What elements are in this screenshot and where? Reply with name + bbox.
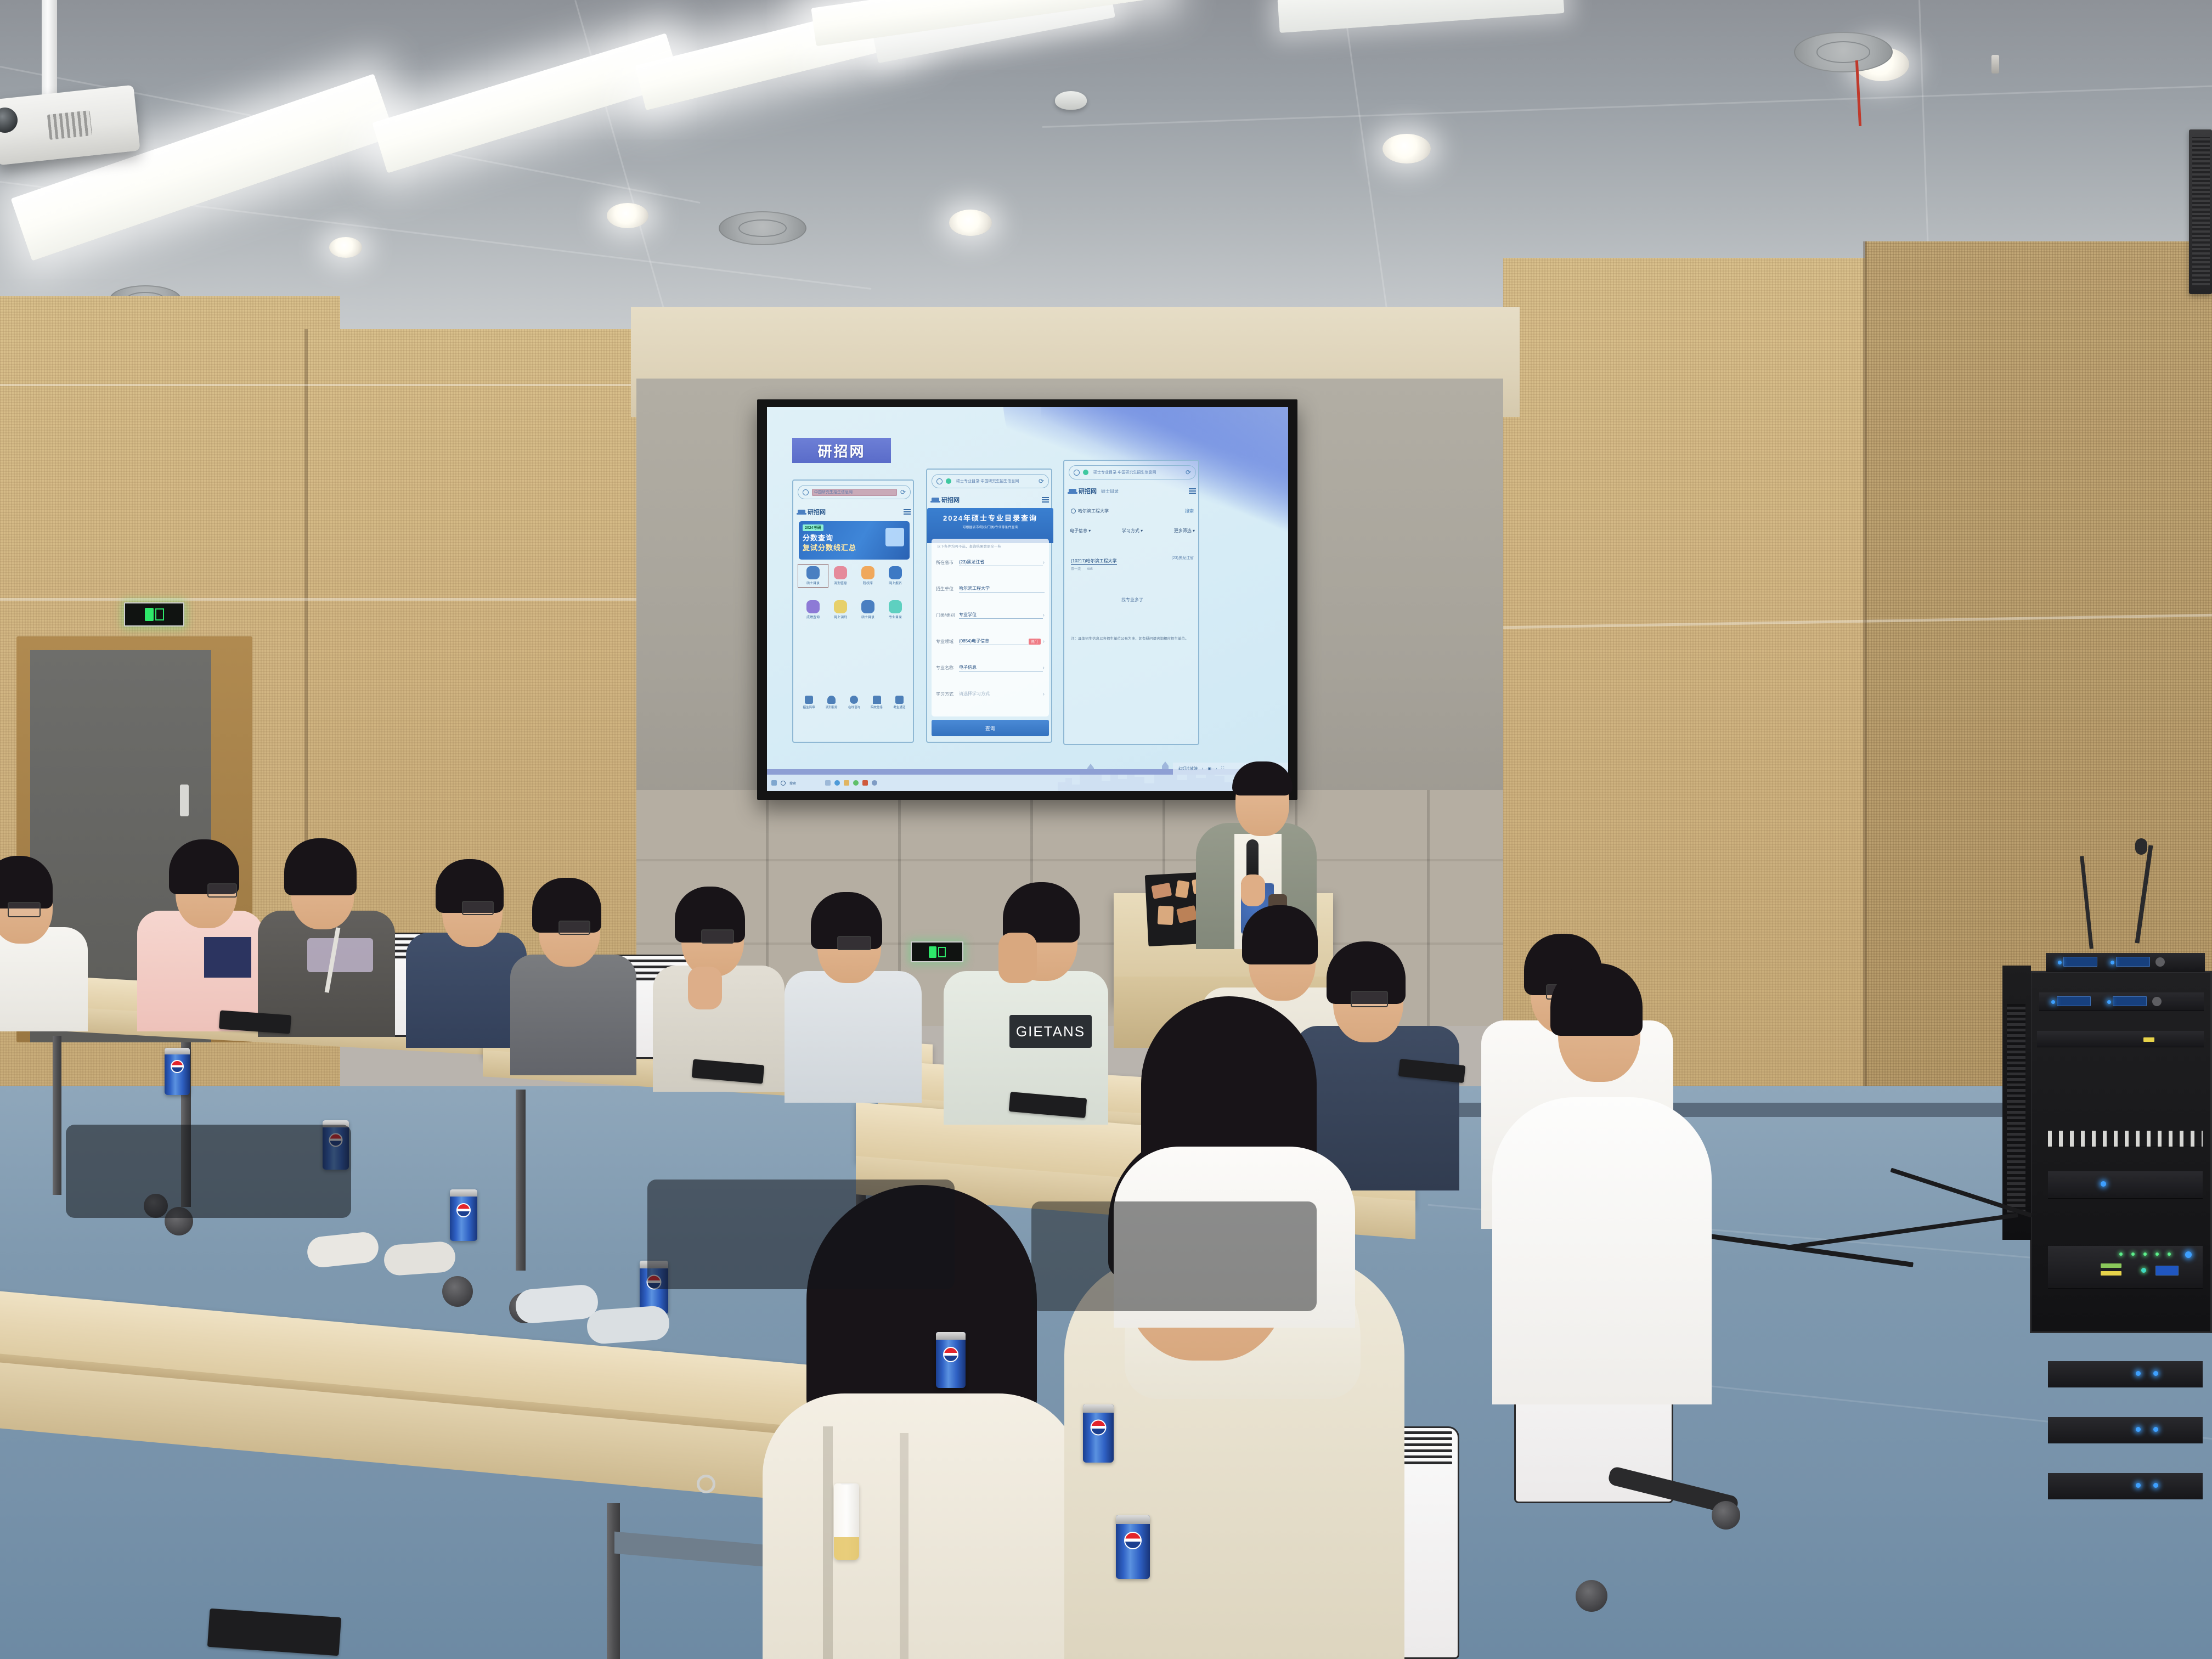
chair-caster <box>1576 1580 1607 1612</box>
brand-subtitle: 硕士目录 <box>1101 488 1119 494</box>
search-icon <box>803 489 809 495</box>
app-top-bar: 研招网 硕士目录 <box>1064 484 1200 498</box>
status-led <box>2111 961 2114 964</box>
hamburger-menu-icon[interactable] <box>904 509 911 515</box>
table-caster <box>442 1276 473 1307</box>
ceiling-air-vent <box>719 211 806 245</box>
pepsi-logo-icon <box>943 1347 958 1362</box>
app-icon <box>806 566 820 579</box>
search-icon[interactable] <box>781 781 786 786</box>
app-icon <box>806 600 820 613</box>
wechat-icon[interactable] <box>853 780 859 786</box>
browser-url-bar[interactable]: 硕士专业目录-中国研究生招生信息网 ⟳ <box>1069 465 1196 479</box>
status-led <box>2051 1000 2055 1004</box>
app-grid-row-1: 硕士目录 调剂信息 院校库 网上报名 <box>800 566 909 585</box>
table-leg <box>516 1090 526 1271</box>
hamburger-menu-icon[interactable] <box>1042 497 1049 503</box>
result-tag: 双一流 <box>1071 568 1081 571</box>
smoke-detector-icon <box>1055 91 1087 110</box>
rack-unit-mixer[interactable] <box>2037 1031 2204 1047</box>
search-icon <box>936 478 943 484</box>
brand-text: 研招网 <box>941 495 960 504</box>
projection-screen-surface: 研招网 中国研究生招生信息网 ⟳ 研招网 2024考研 分数查 <box>767 407 1288 791</box>
result-item[interactable]: (10217)哈尔滨工程大学 (23)黑龙江省 <box>1071 555 1194 565</box>
student-10-glasses <box>1351 991 1388 1007</box>
url-text: 硕士专业目录-中国研究生招生信息网 <box>955 478 1035 484</box>
brand-text: 研招网 <box>1079 487 1097 495</box>
status-led <box>2058 961 2062 964</box>
student-2-glasses <box>207 883 237 898</box>
field-row-专业领域[interactable]: 专业领域 (0854)电子信息 热门 › <box>932 635 1049 647</box>
under-table-shadow <box>647 1180 955 1289</box>
result-side-label: (23)黑龙江省 <box>1172 555 1194 561</box>
can-lid <box>450 1189 477 1197</box>
student-7-body <box>785 971 922 1103</box>
url-favicon <box>1083 470 1088 475</box>
slide-phone-mock-query: 硕士专业目录-中国研究生招生信息网 ⟳ 研招网 2024年硕士专业目录查询 可根… <box>926 469 1052 743</box>
shoe <box>383 1241 456 1277</box>
volume-knob[interactable] <box>2155 957 2165 967</box>
hamburger-menu-icon[interactable] <box>1189 488 1196 494</box>
app-brand: 研招网 <box>798 507 826 516</box>
status-led <box>2119 1252 2123 1256</box>
audio-video-equipment-rack <box>2030 971 2212 1333</box>
app-tile-院校库[interactable]: 院校库 <box>855 566 881 585</box>
field-key: 专业名称 <box>936 665 959 671</box>
ceiling-downlight <box>949 210 992 236</box>
slideshow-label: 幻灯片放映 <box>1178 766 1198 771</box>
pepsi-can[interactable] <box>1083 1404 1114 1463</box>
wall-panel-joint <box>1863 241 1867 1097</box>
nav-icon <box>850 696 858 704</box>
status-led <box>2107 1000 2111 1004</box>
banner-tag: 2024考研 <box>803 524 823 531</box>
query-header-title: 2024年硕士专业目录查询 <box>927 508 1053 523</box>
rack-unit-processor[interactable] <box>2048 1246 2203 1289</box>
filter-chip[interactable]: 更多筛选 ▾ <box>1174 528 1195 534</box>
student-8-shirt-print: GIETANS <box>1009 1015 1092 1048</box>
query-hint: 以下条件均可不选，查询结果会更全一些 <box>937 543 1001 549</box>
pointer-button[interactable]: ▣ <box>1207 766 1211 771</box>
student-8-hand <box>998 933 1037 983</box>
projector-vent <box>47 110 92 140</box>
nav-icon <box>827 696 836 704</box>
chevron-right-icon: › <box>1043 665 1045 671</box>
status-led <box>2153 1483 2158 1488</box>
table-leg <box>53 1036 61 1195</box>
status-led <box>2155 1252 2159 1256</box>
task-view-icon[interactable] <box>825 780 831 786</box>
projection-screen-frame: 研招网 中国研究生招生信息网 ⟳ 研招网 2024考研 分数查 <box>757 399 1297 800</box>
refresh-icon[interactable]: ⟳ <box>900 488 906 496</box>
under-table-shadow <box>66 1125 351 1218</box>
ceiling-air-vent <box>1794 32 1893 72</box>
ceiling-downlight <box>607 203 648 228</box>
student-12-body <box>763 1393 1081 1659</box>
result-tags: 双一流 985 <box>1071 566 1194 571</box>
field-row-学习方式[interactable]: 学习方式 请选择学习方式 › <box>932 688 1049 700</box>
slide-phone-mock-results: 硕士专业目录-中国研究生招生信息网 ⟳ 研招网 硕士目录 哈尔滨工程大学 搜索 <box>1063 460 1199 745</box>
status-led <box>2136 1483 2141 1488</box>
slide-phone-mock-home: 中国研究生招生信息网 ⟳ 研招网 2024考研 分数查询 复试分数线汇总 <box>792 479 914 743</box>
results-filter-chips: 电子信息 ▾ 学习方式 ▾ 更多筛选 ▾ <box>1064 528 1200 534</box>
search-value: 哈尔滨工程大学 <box>1078 508 1183 514</box>
bottle-liquid <box>834 1537 859 1560</box>
rack-unit-power-sequencer[interactable] <box>2048 1361 2203 1387</box>
status-led <box>2101 1263 2121 1268</box>
nav-label: 在线咨询 <box>848 705 860 709</box>
app-top-bar: 研招网 <box>793 505 915 519</box>
status-led <box>2101 1181 2106 1187</box>
status-led <box>2136 1371 2141 1376</box>
app-label: 专业目录 <box>889 614 902 619</box>
app-tile-专业目录[interactable]: 专业目录 <box>882 600 909 619</box>
app-tile-网上调剂[interactable]: 网上调剂 <box>827 600 854 619</box>
can-lid <box>1083 1404 1114 1413</box>
status-led <box>2131 1252 2135 1256</box>
under-table-shadow <box>1031 1201 1317 1311</box>
promo-banner[interactable]: 2024考研 分数查询 复试分数线汇总 <box>799 521 910 560</box>
receiver-lcd-display <box>2063 957 2097 967</box>
rack-unit-wireless-receiver[interactable] <box>2046 953 2205 972</box>
browser-url-bar[interactable]: 中国研究生招生信息网 ⟳ <box>798 485 911 499</box>
app-tile-成绩查询[interactable]: 成绩查询 <box>800 600 826 619</box>
search-icon <box>1071 509 1076 513</box>
chevron-right-icon: › <box>1043 639 1045 645</box>
field-row-门类类别[interactable]: 门类/类别 专业学位 › <box>932 609 1049 621</box>
microphone-capsule-icon <box>2135 838 2147 855</box>
app-grid-row-2: 成绩查询 网上调剂 硕士目录 专业目录 <box>800 600 909 619</box>
app-label: 硕士目录 <box>861 614 874 619</box>
can-lid <box>1116 1515 1150 1524</box>
nav-icon <box>895 696 904 704</box>
field-key: 门类/类别 <box>936 612 959 618</box>
pepsi-can[interactable] <box>450 1189 477 1241</box>
bottled-drink[interactable] <box>834 1483 859 1560</box>
ceiling-downlight <box>1383 134 1431 163</box>
student-3-shirt-graphic <box>307 938 373 972</box>
field-value: 哈尔滨工程大学 <box>959 585 1045 592</box>
status-led <box>2153 1371 2158 1376</box>
result-center-note: 找专业多了 <box>1064 597 1200 603</box>
slide-title: 研招网 <box>792 438 891 463</box>
exit-running-man-icon <box>929 946 936 958</box>
exit-running-man-icon <box>145 608 154 621</box>
can-lid <box>936 1332 966 1340</box>
nav-label: 院校信息 <box>871 705 883 709</box>
field-value: (23)黑龙江省 <box>959 559 1043 566</box>
result-footnote: 注：具体招生信息以各招生单位公布为准，如有疑问请咨询相应招生单位。 <box>1071 636 1194 642</box>
fire-sprinkler-icon <box>1991 55 1999 74</box>
app-brand: 研招网 <box>932 495 960 504</box>
exit-sign-left <box>124 602 184 627</box>
search-icon <box>1074 470 1080 476</box>
query-page-header: 2024年硕士专业目录查询 可根据省市/院校/门类/专业等条件查询 <box>927 508 1053 543</box>
graduation-cap-icon <box>932 498 939 502</box>
refresh-icon[interactable]: ⟳ <box>1039 477 1044 485</box>
file-explorer-icon[interactable] <box>844 780 849 786</box>
status-led <box>2136 1427 2141 1432</box>
receiver-lcd-display <box>2057 996 2091 1006</box>
fullscreen-button[interactable]: ⛶ <box>1221 766 1224 771</box>
presenter-hand <box>1241 874 1265 906</box>
nav-item-院校信息[interactable]: 院校信息 <box>871 696 883 709</box>
bottle-cap <box>840 1483 853 1485</box>
field-value: 电子信息 <box>959 664 1043 672</box>
field-value: (0854)电子信息 <box>959 638 1029 645</box>
query-header-subtitle: 可根据省市/院校/门类/专业等条件查询 <box>927 523 1053 529</box>
app-label: 调剂信息 <box>834 580 847 585</box>
refresh-icon[interactable]: ⟳ <box>1186 469 1191 476</box>
field-key: 专业领域 <box>936 639 959 645</box>
chevron-right-icon: › <box>1043 612 1045 618</box>
banner-line2: 复试分数线汇总 <box>803 542 856 552</box>
chevron-right-icon: › <box>1043 560 1045 566</box>
classroom-scene: 研招网 中国研究生招生信息网 ⟳ 研招网 2024考研 分数查 <box>0 0 2212 1659</box>
edge-browser-icon[interactable] <box>834 780 840 786</box>
rack-unit-wireless-receiver[interactable] <box>2039 992 2204 1011</box>
status-led <box>2153 1427 2158 1432</box>
student-4-body <box>406 933 527 1048</box>
student-2-shirt-graphic <box>204 937 251 978</box>
nav-item-考生通道[interactable]: 考生通道 <box>893 696 905 709</box>
pepsi-can[interactable] <box>165 1048 190 1095</box>
url-chip: 中国研究生招生信息网 <box>812 489 897 496</box>
student-7-glasses <box>837 936 871 950</box>
student-5-body <box>510 955 636 1075</box>
wall-panel-joint <box>0 384 658 386</box>
results-search-row[interactable]: 哈尔滨工程大学 搜索 <box>1071 508 1194 514</box>
nav-label: 招生简章 <box>803 705 815 709</box>
windows-start-icon[interactable] <box>771 780 777 786</box>
student-3-hair <box>284 838 357 895</box>
ceiling-downlight <box>329 237 362 258</box>
field-key: 所在省市 <box>936 560 959 566</box>
graduation-cap-icon <box>798 510 805 514</box>
nav-label: 调剂服务 <box>826 705 838 709</box>
search-button[interactable]: 搜索 <box>1185 508 1194 514</box>
app-tile-硕士目录[interactable]: 硕士目录 <box>800 566 826 585</box>
rack-unit-amplifier[interactable] <box>2048 1171 2203 1199</box>
brand-text: 研招网 <box>808 507 826 516</box>
laptop-sticker <box>1176 905 1198 923</box>
student-6-hand <box>688 967 722 1009</box>
pepsi-logo-icon <box>171 1060 184 1073</box>
app-icon <box>834 566 847 579</box>
field-row-所在省市[interactable]: 所在省市 (23)黑龙江省 › <box>932 556 1049 568</box>
rack-vent-grille <box>2007 1004 2025 1212</box>
nav-icon <box>873 696 881 704</box>
result-tag: 985 <box>1087 568 1093 571</box>
query-form-card: 以下条件均可不选，查询结果会更全一些 所在省市 (23)黑龙江省 › 招生单位 … <box>932 539 1049 716</box>
ring-pull-tab <box>697 1475 715 1493</box>
app-tile-网上报名[interactable]: 网上报名 <box>882 566 909 585</box>
exit-sign-center <box>911 941 963 962</box>
can-lid <box>165 1048 190 1054</box>
taskbar-search-label[interactable]: 搜索 <box>789 781 796 786</box>
student-4-glasses <box>462 901 494 915</box>
app-label: 硕士目录 <box>806 580 820 585</box>
pepsi-logo-icon <box>1124 1532 1142 1549</box>
chair-caster <box>1712 1501 1740 1530</box>
student-6-glasses <box>701 929 734 944</box>
prev-slide-button[interactable]: ‹ <box>1202 767 1203 771</box>
pepsi-logo-icon <box>1091 1420 1107 1436</box>
field-key: 学习方式 <box>936 691 959 697</box>
app-label: 网上报名 <box>889 580 902 585</box>
url-text: 硕士专业目录-中国研究生招生信息网 <box>1092 470 1182 475</box>
banner-line1: 分数查询 <box>803 532 833 543</box>
volume-knob[interactable] <box>2152 997 2162 1006</box>
pepsi-can[interactable] <box>1116 1515 1150 1579</box>
student-12-stripe <box>823 1426 833 1659</box>
status-led <box>2143 1252 2147 1256</box>
table-leg <box>607 1503 620 1659</box>
app-label: 网上调剂 <box>834 614 847 619</box>
student-5-glasses <box>558 921 590 935</box>
field-value: 专业学位 <box>959 612 1043 619</box>
door-handle[interactable] <box>180 785 189 816</box>
bottom-nav-row: 招生简章 调剂服务 在线咨询 院校信息 考生通道 <box>798 696 911 709</box>
nav-item-招生简章[interactable]: 招生简章 <box>803 696 815 709</box>
app-brand: 研招网 硕士目录 <box>1069 487 1119 495</box>
student-9-hair <box>1242 905 1318 964</box>
student-1-glasses <box>8 902 41 917</box>
pepsi-logo-icon <box>456 1203 471 1217</box>
powerpoint-icon[interactable] <box>862 780 868 786</box>
query-submit-button[interactable]: 查询 <box>932 720 1049 736</box>
app-icon <box>889 600 902 613</box>
status-led <box>2185 1251 2192 1258</box>
nav-item-在线咨询[interactable]: 在线咨询 <box>848 696 860 709</box>
rack-unit-power-sequencer[interactable] <box>2048 1473 2203 1499</box>
windows-taskbar: 搜索 <box>767 775 1288 791</box>
exit-door-icon <box>938 947 946 957</box>
result-title: (10217)哈尔滨工程大学 <box>1071 558 1117 565</box>
field-row-招生单位[interactable]: 招生单位 哈尔滨工程大学 <box>932 583 1049 595</box>
status-led <box>2141 1268 2146 1273</box>
browser-icon[interactable] <box>872 780 877 786</box>
projector-mount-rod <box>42 0 57 102</box>
status-led <box>2168 1252 2171 1256</box>
laptop-sticker <box>1151 883 1172 899</box>
rack-unit-power-sequencer[interactable] <box>2048 1417 2203 1443</box>
graduation-cap-icon <box>1069 489 1076 493</box>
filter-chip[interactable]: 学习方式 ▾ <box>1122 528 1143 534</box>
wall-speaker-grille <box>2192 137 2210 285</box>
processor-lcd <box>2155 1266 2179 1276</box>
student-15-body <box>1492 1097 1712 1404</box>
exit-door-icon <box>155 608 164 620</box>
app-label: 院校库 <box>863 580 873 585</box>
laptop-sticker <box>1158 906 1174 925</box>
field-value: 请选择学习方式 <box>959 691 1043 697</box>
app-icon <box>861 566 874 579</box>
laptop-sticker <box>1175 880 1189 898</box>
rack-unit-patch-panel[interactable] <box>2048 1131 2203 1147</box>
nav-item-调剂服务[interactable]: 调剂服务 <box>826 696 838 709</box>
filter-chip[interactable]: 电子信息 ▾ <box>1070 528 1091 534</box>
browser-url-bar[interactable]: 硕士专业目录-中国研究生招生信息网 ⟳ <box>932 474 1049 488</box>
status-led <box>2143 1037 2154 1042</box>
student-12-stripe <box>900 1433 909 1659</box>
app-label: 成绩查询 <box>806 614 820 619</box>
receiver-lcd-display <box>2113 996 2147 1006</box>
field-key: 招生单位 <box>936 586 959 592</box>
status-led <box>2101 1271 2121 1276</box>
chevron-right-icon: › <box>1043 691 1045 697</box>
app-icon <box>861 600 874 613</box>
banner-document-icon <box>885 528 904 546</box>
field-row-专业名称[interactable]: 专业名称 电子信息 › <box>932 662 1049 674</box>
hot-badge: 热门 <box>1029 639 1041 645</box>
next-slide-button[interactable]: › <box>1216 767 1217 771</box>
nav-label: 考生通道 <box>893 705 905 709</box>
pepsi-can[interactable] <box>936 1332 966 1388</box>
app-tile-调剂信息[interactable]: 调剂信息 <box>827 566 854 585</box>
receiver-lcd-display <box>2116 957 2150 967</box>
app-icon <box>834 600 847 613</box>
wall-panel-joint <box>0 598 658 601</box>
app-tile-硕士目录-2[interactable]: 硕士目录 <box>855 600 881 619</box>
app-top-bar: 研招网 <box>927 493 1053 507</box>
url-text: 中国研究生招生信息网 <box>812 489 853 495</box>
app-icon <box>889 566 902 579</box>
nav-icon <box>805 696 813 704</box>
url-favicon <box>946 478 951 484</box>
shoe <box>586 1305 670 1345</box>
